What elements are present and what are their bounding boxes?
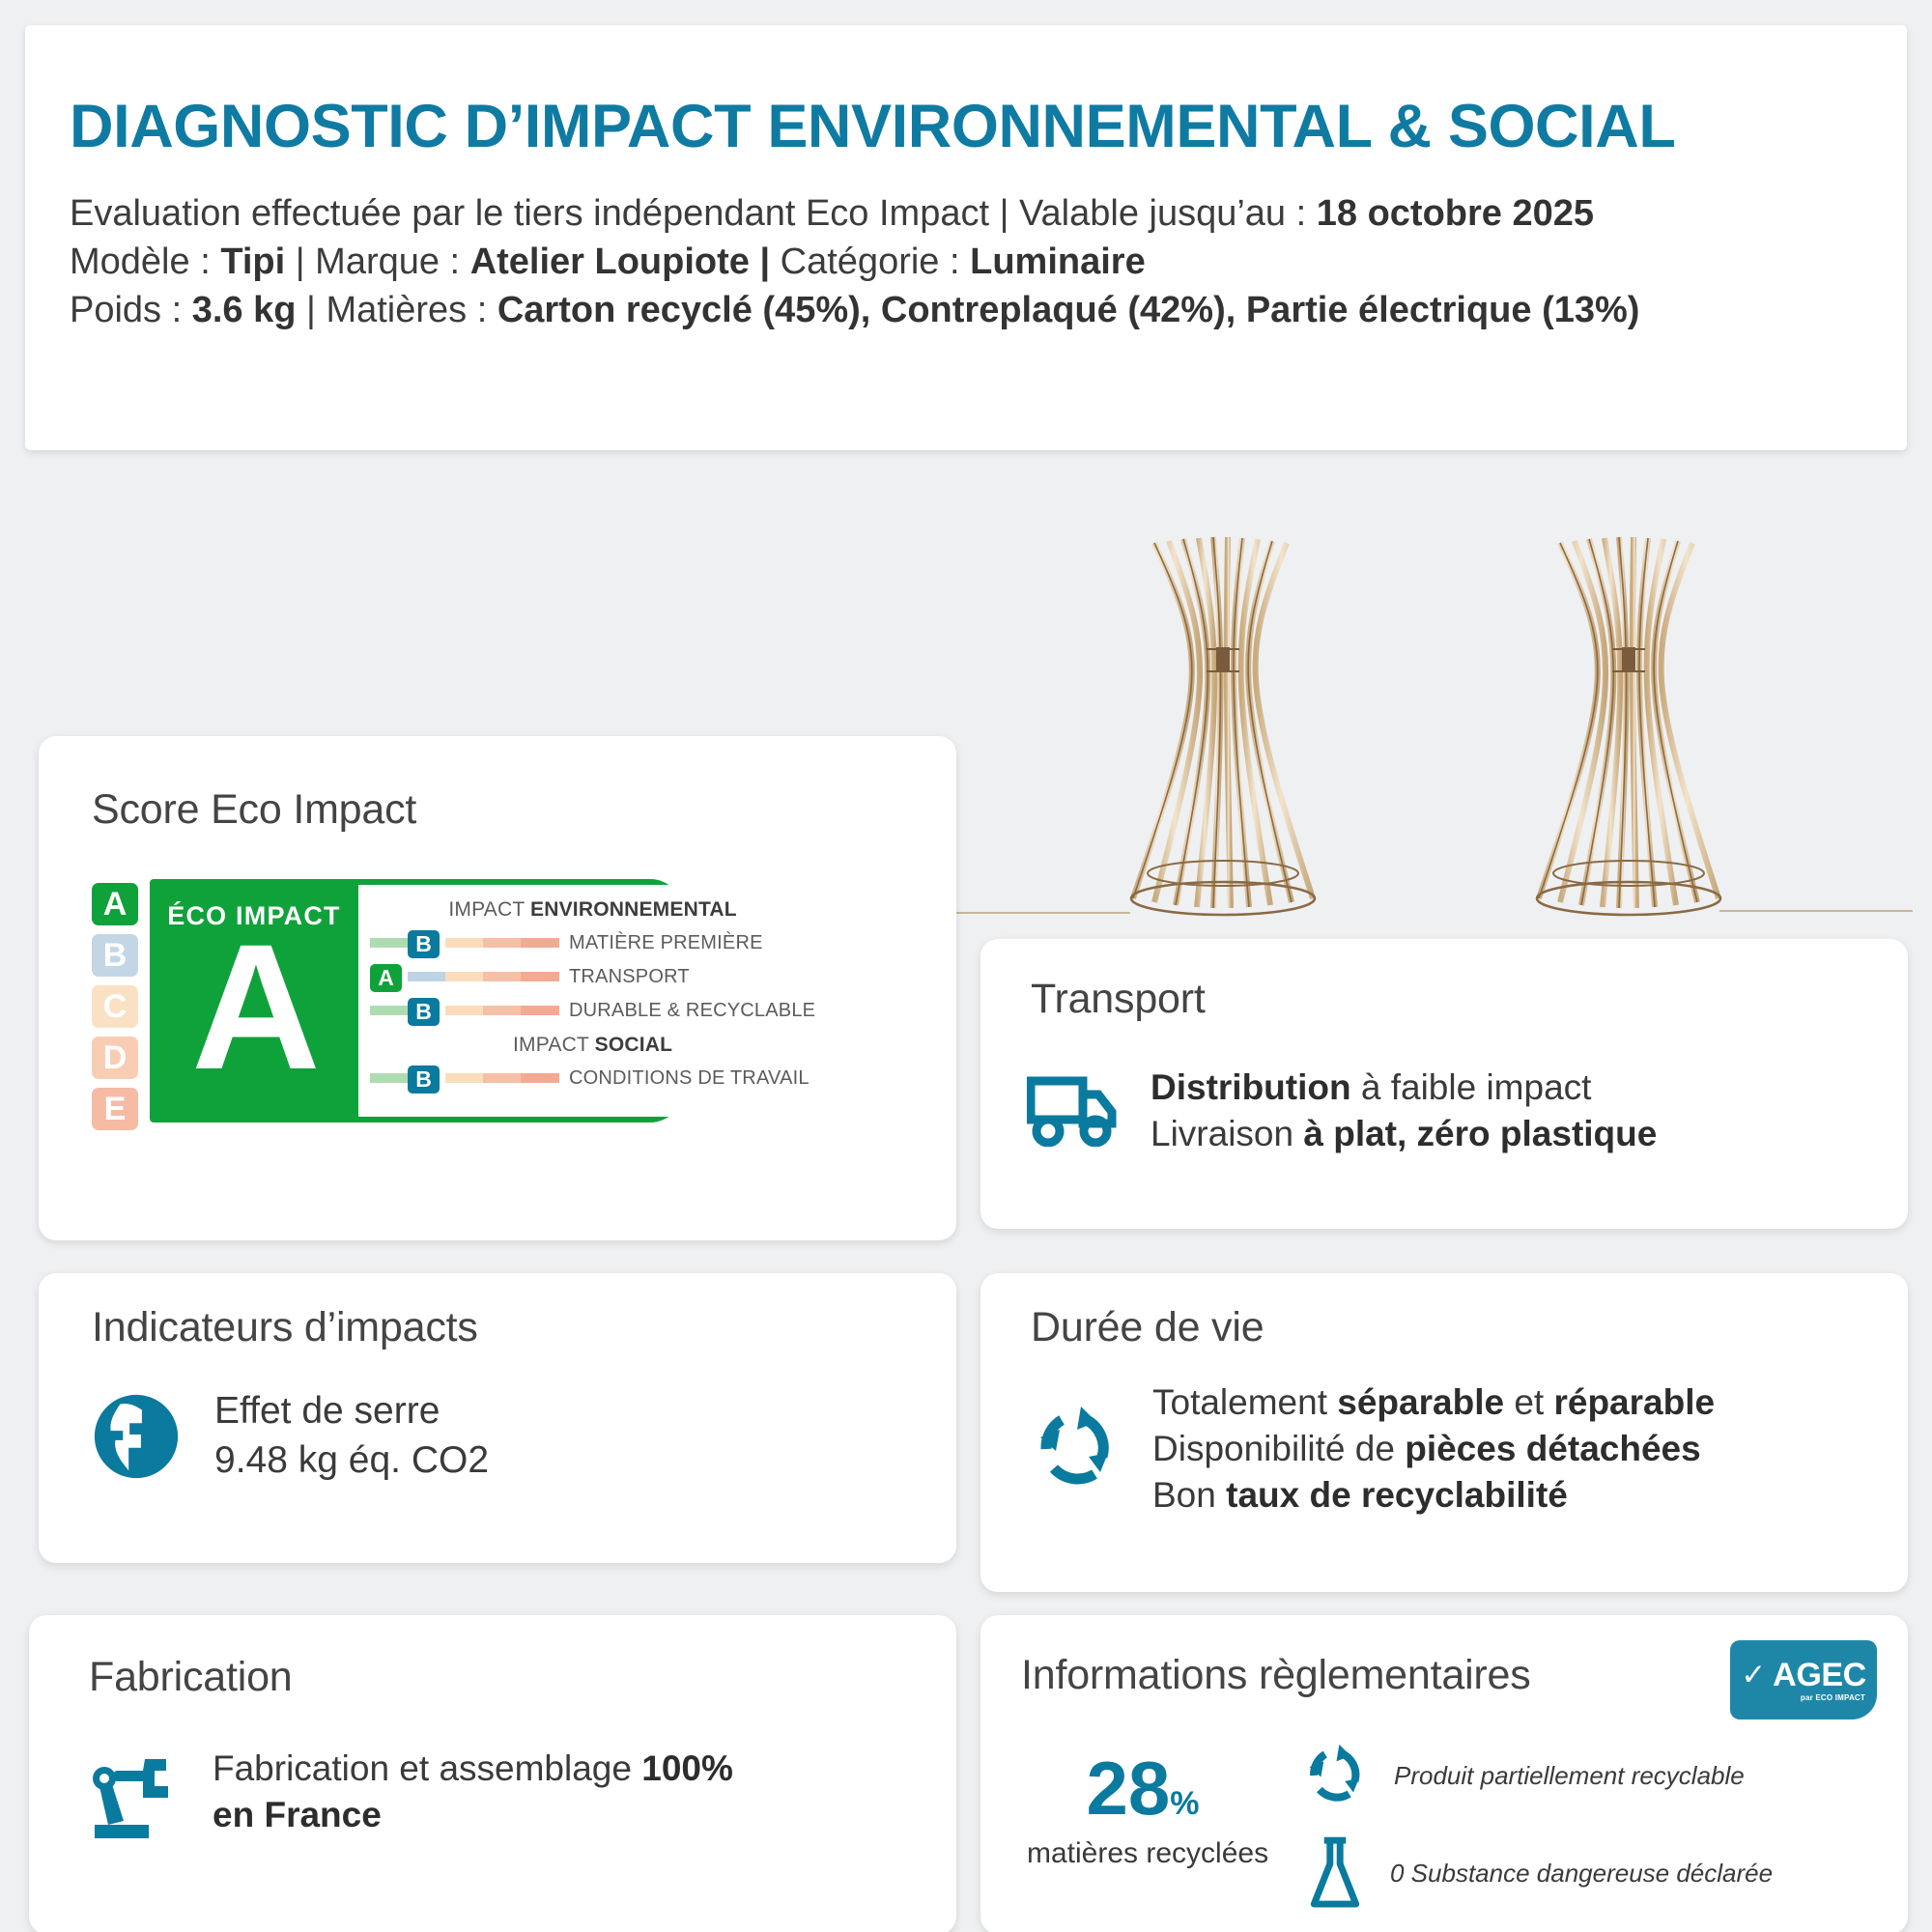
header-panel: DIAGNOSTIC D’IMPACT ENVIRONNEMENTAL & SO… <box>25 25 1907 450</box>
eco-impact-label: A B C D E ÉCO IMPACT A IMPACT ENVIRONNEM… <box>92 879 683 1130</box>
recycled-percentage-symbol: % <box>1170 1785 1199 1823</box>
transport-line-1-rest: à faible impact <box>1351 1067 1592 1107</box>
reglementaires-item-text: Produit partiellement recyclable <box>1394 1761 1745 1791</box>
duree-line-1-a: Totalement <box>1152 1382 1337 1422</box>
grade-gradient-track: A <box>370 972 559 981</box>
duree-line-1-b: séparable <box>1337 1382 1504 1422</box>
recycled-percentage-value: 28 <box>1087 1750 1171 1826</box>
eco-label-grade: A <box>191 935 317 1082</box>
eco-row-durable-recyclable: B DURABLE & RECYCLABLE <box>370 996 815 1025</box>
category-value: Luminaire <box>970 241 1146 282</box>
eco-env-heading-bold: ENVIRONNEMENTAL <box>530 898 737 921</box>
eco-row-label: MATIÈRE PREMIÈRE <box>569 932 763 954</box>
grade-segment-a <box>370 938 408 948</box>
duree-line-3: Bon taux de recyclabilité <box>1152 1472 1715 1519</box>
grade-segment-c <box>445 972 483 981</box>
eco-social-heading-normal: IMPACT <box>513 1034 595 1056</box>
reglementaires-card-title: Informations règlementaires <box>1021 1652 1531 1699</box>
score-card-title: Score Eco Impact <box>92 786 416 834</box>
duree-line-2: Disponibilité de pièces détachées <box>1152 1426 1715 1472</box>
grade-scale-cell-e: E <box>92 1088 138 1130</box>
lamp-cord <box>1719 910 1913 912</box>
duree-line-1-c: et <box>1504 1382 1553 1422</box>
page-title: DIAGNOSTIC D’IMPACT ENVIRONNEMENTAL & SO… <box>70 97 1907 157</box>
grade-marker: B <box>408 1065 440 1094</box>
brand-value: Atelier Loupiote | <box>470 241 770 282</box>
materials-label: | Matières : <box>296 290 497 330</box>
model-label: Modèle : <box>70 241 220 282</box>
grade-scale: A B C D E <box>92 879 138 1130</box>
weight-label: Poids : <box>70 290 192 330</box>
duree-line-3-a: Bon <box>1152 1475 1226 1515</box>
recycle-arrows-icon <box>1299 1739 1371 1812</box>
duree-line-3-b: taux de recyclabilité <box>1226 1475 1568 1515</box>
model-value: Tipi <box>220 241 285 282</box>
product-image <box>947 483 1913 937</box>
grade-scale-cell-d: D <box>92 1037 138 1079</box>
grade-segment-c <box>445 1073 483 1083</box>
eco-social-heading-bold: SOCIAL <box>595 1034 673 1056</box>
header-model-line: Modèle : Tipi | Marque : Atelier Loupiot… <box>70 238 1907 286</box>
transport-card-title: Transport <box>1031 976 1206 1023</box>
lamp-cord <box>947 912 1130 914</box>
agec-sublabel: par ECO IMPACT <box>1801 1693 1865 1702</box>
indicateurs-card: Indicateurs d’impacts Effet de serre 9.4… <box>39 1273 956 1563</box>
grade-segment-d <box>483 1073 521 1083</box>
eco-social-heading: IMPACT SOCIAL <box>370 1034 815 1057</box>
eco-label-badge: ÉCO IMPACT A IMPACT ENVIRONNEMENTAL <box>150 879 683 1122</box>
duree-de-vie-card: Durée de vie Totalement séparable et rép… <box>980 1273 1908 1592</box>
fabrication-card-title: Fabrication <box>89 1654 293 1701</box>
check-icon: ✓ <box>1741 1660 1766 1690</box>
duree-line-1: Totalement séparable et réparable <box>1152 1379 1715 1426</box>
indicateurs-line-2: 9.48 kg éq. CO2 <box>214 1436 489 1486</box>
diagnostic-sheet: DIAGNOSTIC D’IMPACT ENVIRONNEMENTAL & SO… <box>0 0 1932 1932</box>
eco-env-heading-normal: IMPACT <box>448 898 530 921</box>
header-evaluation-line: Evaluation effectuée par le tiers indépe… <box>70 189 1907 238</box>
reglementaires-item-text: 0 Substance dangereuse déclarée <box>1390 1859 1773 1889</box>
grade-segment-e <box>521 972 559 981</box>
robot-arm-icon <box>85 1749 182 1842</box>
grade-marker: B <box>408 930 440 958</box>
transport-line-1-strong: Distribution <box>1151 1067 1351 1107</box>
fabrication-line-c: France <box>264 1795 381 1834</box>
evaluation-prefix: Evaluation effectuée par le tiers indépe… <box>70 193 1317 234</box>
informations-reglementaires-card: Informations règlementaires ✓ AGEC par E… <box>980 1615 1908 1932</box>
grade-segment-e <box>521 1073 559 1083</box>
transport-line-2-strong: à plat, zéro plastique <box>1303 1114 1657 1153</box>
duree-text: Totalement séparable et réparable Dispon… <box>1152 1379 1715 1519</box>
grade-segment-d <box>483 972 521 981</box>
reglementaires-item: 0 Substance dangereuse déclarée <box>1305 1835 1773 1911</box>
agec-badge: ✓ AGEC par ECO IMPACT <box>1730 1640 1877 1719</box>
truck-icon <box>1027 1075 1120 1147</box>
flask-icon <box>1305 1835 1365 1911</box>
indicateurs-text: Effet de serre 9.48 kg éq. CO2 <box>214 1387 489 1485</box>
grade-segment-c <box>445 938 483 948</box>
duree-card-title: Durée de vie <box>1031 1304 1264 1351</box>
eco-label-details: IMPACT ENVIRONNEMENTAL B MATIÈRE PREMIÈR… <box>358 885 827 1117</box>
grade-segment-d <box>483 938 521 948</box>
grade-segment-a <box>370 1006 408 1015</box>
reglementaires-item: Produit partiellement recyclable <box>1299 1739 1745 1812</box>
lamp-illustration <box>1521 533 1744 920</box>
eco-label-grade-panel: ÉCO IMPACT A <box>150 879 358 1122</box>
grade-gradient-track: B <box>370 1006 559 1015</box>
recycled-percentage-caption: matières recyclées <box>1027 1837 1259 1870</box>
lamp-illustration <box>1116 533 1338 920</box>
weight-value: 3.6 kg <box>192 290 297 330</box>
eco-row-label: TRANSPORT <box>569 966 690 988</box>
eco-row-conditions-travail: B CONDITIONS DE TRAVAIL <box>370 1064 815 1093</box>
grade-segment-e <box>521 1006 559 1015</box>
grade-segment-a <box>370 1073 408 1083</box>
eco-row-matiere-premiere: B MATIÈRE PREMIÈRE <box>370 928 815 957</box>
globe-icon <box>89 1389 184 1484</box>
recycle-arrows-icon <box>1027 1399 1123 1499</box>
category-label: Catégorie : <box>770 241 970 282</box>
eco-row-label: DURABLE & RECYCLABLE <box>569 1000 815 1022</box>
grade-marker: A <box>370 964 402 992</box>
fabrication-card: Fabrication Fabrication et assemblage 10… <box>29 1615 956 1932</box>
duree-line-2-a: Disponibilité de <box>1152 1429 1405 1468</box>
indicateurs-line-1: Effet de serre <box>214 1387 489 1436</box>
eco-row-transport: A TRANSPORT <box>370 962 815 991</box>
brand-label: | Marque : <box>285 241 470 282</box>
grade-segment-d <box>483 1006 521 1015</box>
score-card: Score Eco Impact A B C D E ÉCO IMPACT A … <box>39 736 956 1240</box>
grade-scale-cell-b: B <box>92 934 138 977</box>
transport-text: Distribution à faible impact Livraison à… <box>1151 1065 1657 1157</box>
fabrication-line-a: Fabrication et assemblage <box>213 1748 641 1788</box>
agec-label: AGEC <box>1773 1659 1866 1691</box>
grade-segment-b <box>408 972 445 981</box>
grade-segment-e <box>521 938 559 948</box>
evaluation-date: 18 octobre 2025 <box>1317 193 1594 234</box>
transport-line-1: Distribution à faible impact <box>1151 1065 1657 1111</box>
duree-line-2-b: pièces détachées <box>1405 1429 1700 1468</box>
transport-line-2: Livraison à plat, zéro plastique <box>1151 1111 1657 1157</box>
header-weight-line: Poids : 3.6 kg | Matières : Carton recyc… <box>70 286 1907 334</box>
fabrication-text: Fabrication et assemblage 100% en France <box>213 1746 773 1838</box>
materials-value: Carton recyclé (45%), Contreplaqué (42%)… <box>497 290 1640 330</box>
transport-line-2-rest: Livraison <box>1151 1114 1303 1153</box>
eco-row-label: CONDITIONS DE TRAVAIL <box>569 1067 810 1090</box>
grade-segment-c <box>445 1006 483 1015</box>
eco-env-heading: IMPACT ENVIRONNEMENTAL <box>370 898 815 922</box>
indicateurs-card-title: Indicateurs d’impacts <box>92 1304 478 1351</box>
transport-card: Transport Distribution à faible impact L… <box>980 939 1908 1229</box>
grade-marker: B <box>408 998 440 1026</box>
duree-line-1-d: réparable <box>1553 1382 1715 1422</box>
grade-scale-cell-a: A <box>92 883 138 925</box>
grade-gradient-track: B <box>370 938 559 948</box>
grade-gradient-track: B <box>370 1073 559 1083</box>
grade-scale-cell-c: C <box>92 985 138 1028</box>
recycled-percentage-block: 28 % matières recyclées <box>1027 1750 1259 1870</box>
